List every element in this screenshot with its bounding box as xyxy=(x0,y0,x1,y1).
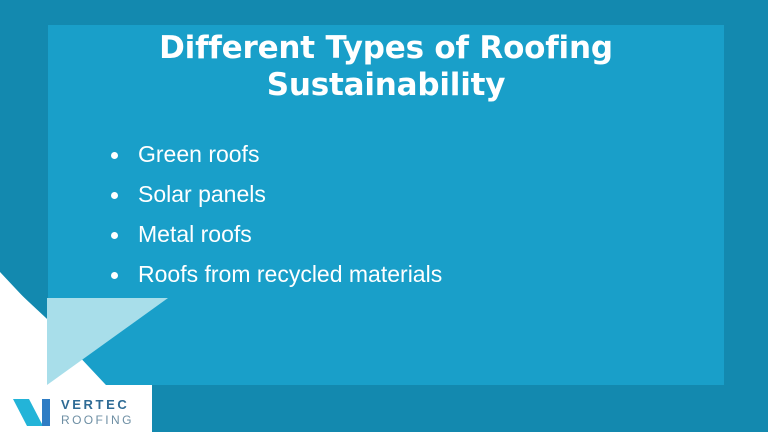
bullet-dot-icon xyxy=(111,232,118,239)
brand-logo[interactable]: VERTEC ROOFING xyxy=(12,397,134,427)
vertec-v-mark-icon xyxy=(12,397,54,427)
list-item: Metal roofs xyxy=(104,214,442,254)
logo-name-top: VERTEC xyxy=(61,398,134,411)
list-item-label: Solar panels xyxy=(138,181,266,207)
list-item: Green roofs xyxy=(104,134,442,174)
list-item-label: Metal roofs xyxy=(138,221,252,247)
page-title-line-2: Sustainability xyxy=(267,67,506,103)
bullet-dot-icon xyxy=(111,192,118,199)
list-item-label: Roofs from recycled materials xyxy=(138,261,442,287)
list-item-label: Green roofs xyxy=(138,141,259,167)
bullet-list: Green roofs Solar panels Metal roofs Roo… xyxy=(104,134,442,294)
list-item: Solar panels xyxy=(104,174,442,214)
page-title-line-1: Different Types of Roofing xyxy=(159,30,613,66)
teal-lower-right-accent xyxy=(152,385,768,432)
bullet-dot-icon xyxy=(111,152,118,159)
list-item: Roofs from recycled materials xyxy=(104,254,442,294)
logo-wordmark: VERTEC ROOFING xyxy=(61,398,134,426)
logo-name-bottom: ROOFING xyxy=(61,414,134,426)
page-title: Different Types of Roofing Sustainabilit… xyxy=(48,30,724,103)
bullet-dot-icon xyxy=(111,272,118,279)
slide-canvas: Different Types of Roofing Sustainabilit… xyxy=(0,0,768,432)
